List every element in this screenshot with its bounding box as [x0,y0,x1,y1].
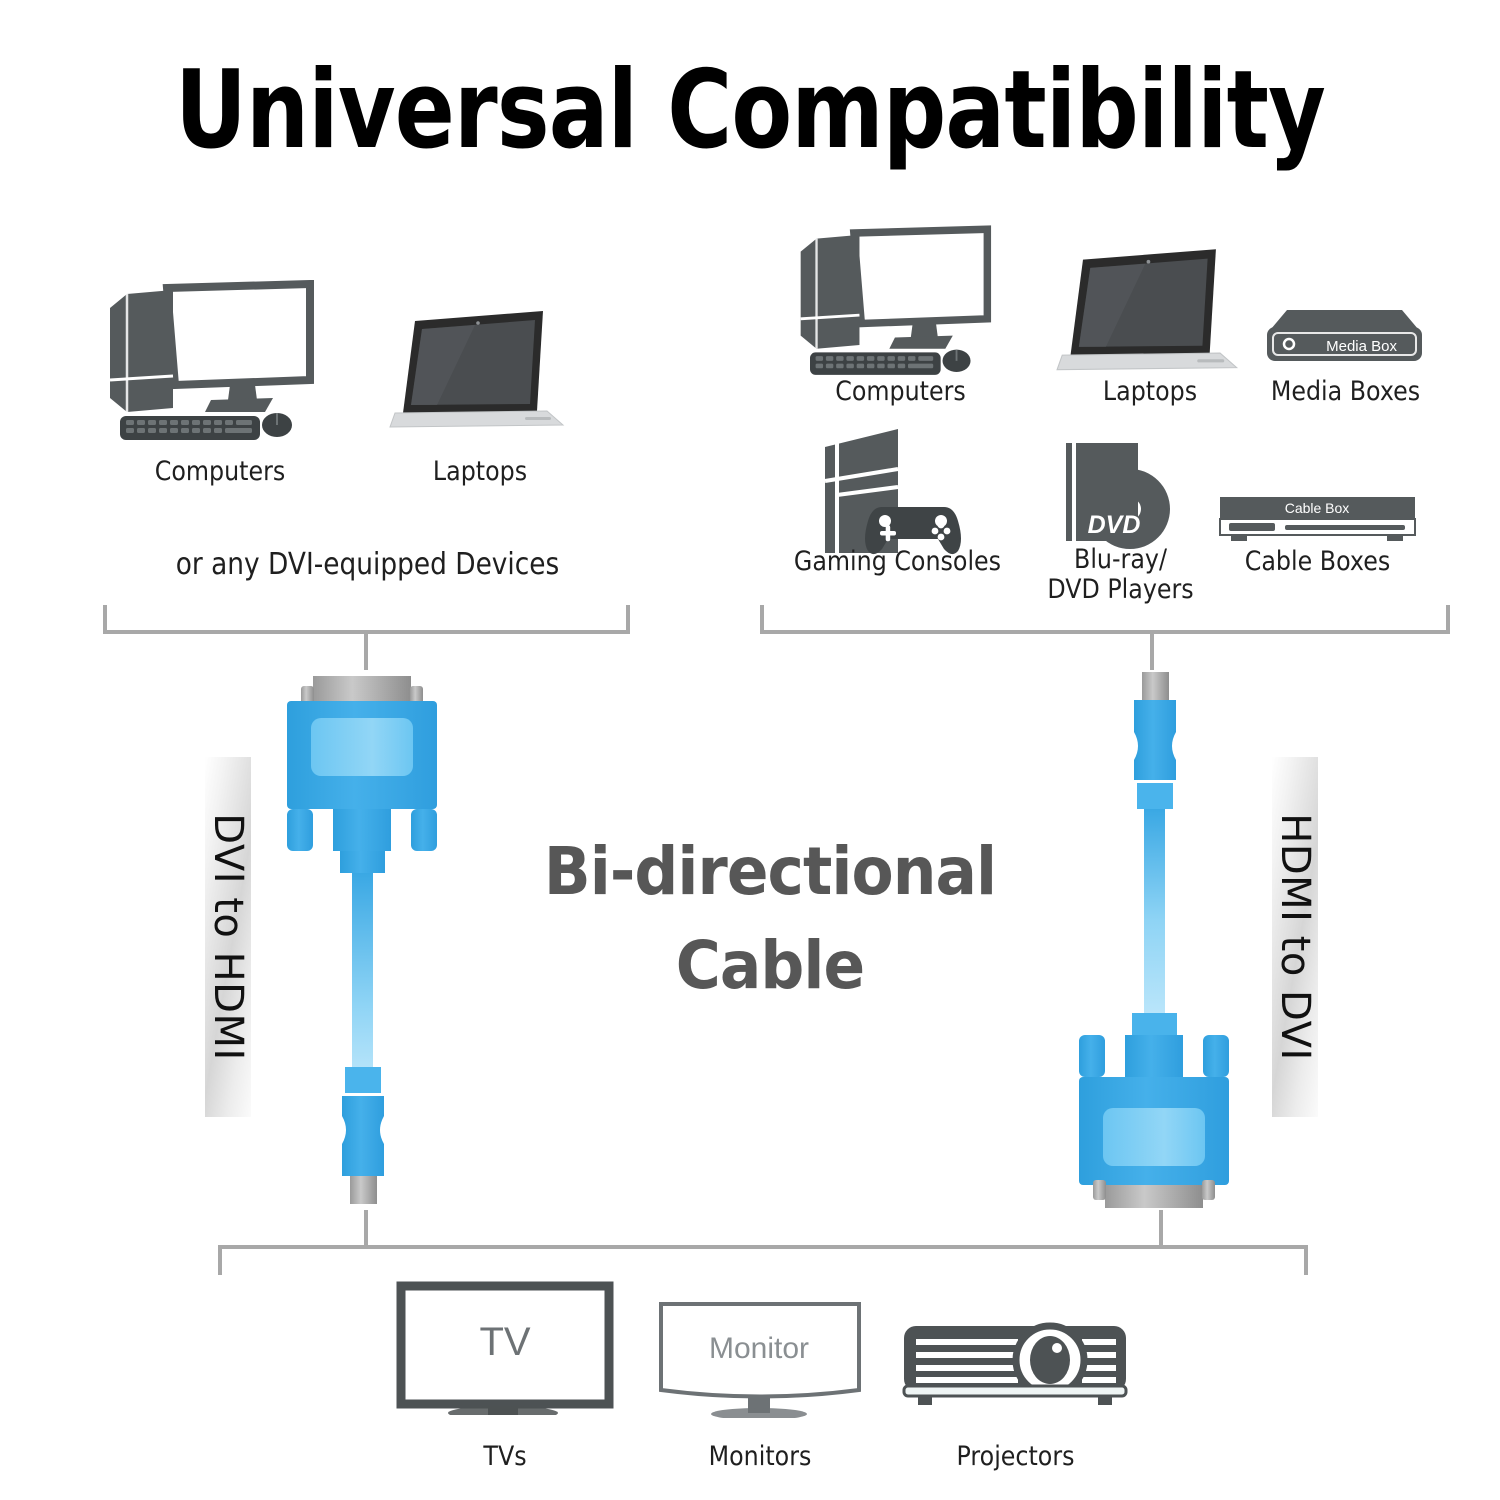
bracket-bottom-horizontal [218,1245,1308,1249]
bracket-bottom-stem-left [364,1210,368,1248]
bracket-left-cap-start [103,605,107,634]
device-label-computers-left: Computers [110,457,330,487]
device-label-dvd-players-line2: DVD Players [1039,575,1202,605]
cable-right [1072,668,1252,1208]
cable-left-label-text: DVI to HDMI [205,813,251,1061]
cable-box-device-text: Cable Box [1285,500,1350,516]
projector-icon [898,1308,1133,1418]
hdmi-to-dvi-cable [1072,668,1252,1208]
device-laptops-right [1048,243,1253,378]
tv-icon: TV [395,1280,615,1415]
device-tvs: TV [395,1280,615,1415]
device-label-cable-boxes: Cable Boxes [1227,547,1407,577]
bracket-bottom-stem-right [1159,1210,1163,1248]
cable-box-icon: Cable Box [1215,495,1420,545]
bracket-right-cap-end [1446,605,1450,634]
device-cable-boxes: Cable Box [1215,495,1420,545]
device-laptops-left [385,305,575,435]
center-caption: Bi-directional Cable [500,825,1039,1012]
center-caption-line2: Cable [500,919,1039,1013]
desktop-computer-icon [796,225,1006,380]
dvi-to-hdmi-cable [280,668,460,1208]
device-label-dvd-players-line1: Blu-ray/ [1039,545,1202,575]
device-label-laptops-right: Laptops [1062,377,1238,407]
device-label-media-boxes: Media Boxes [1255,377,1435,407]
device-label-dvd-players: Blu-ray/ DVD Players [1039,545,1202,605]
bracket-left-cap-end [626,605,630,634]
laptop-icon [1048,243,1253,378]
cable-left [280,668,460,1208]
bracket-bottom-cap-left [218,1245,222,1275]
desktop-computer-icon [105,280,330,445]
cable-right-label-band: HDMI to DVI [1272,757,1318,1117]
device-monitors: Monitor [655,1298,865,1418]
dvd-player-icon: DVD [1048,433,1188,553]
tv-device-text: TV [479,1320,530,1364]
dvi-devices-note: or any DVI-equipped Devices [128,547,608,582]
media-box-icon: Media Box [1257,301,1432,371]
device-computers-left [105,280,330,445]
cable-left-label-band: DVI to HDMI [205,757,251,1117]
bracket-left-stem [364,630,368,670]
device-gaming-consoles [810,425,985,560]
device-label-laptops-left: Laptops [392,457,568,487]
media-box-device-text: Media Box [1326,338,1397,355]
page-title: Universal Compatibility [135,52,1365,171]
bracket-right-stem [1150,630,1154,670]
device-label-projectors: Projectors [912,1442,1119,1472]
dvd-device-text: DVD [1088,511,1141,539]
device-label-tvs: TVs [408,1442,602,1472]
device-media-boxes: Media Box [1257,301,1432,371]
game-console-icon [810,425,985,560]
infographic-canvas: Universal Compatibility [0,0,1500,1500]
device-label-monitors: Monitors [659,1442,861,1472]
output-group: TV TVs Monitor Monitors [380,1270,1140,1480]
center-caption-line1: Bi-directional [500,825,1039,919]
monitor-icon: Monitor [655,1298,865,1418]
device-label-computers-right: Computers [802,377,1000,407]
source-group-right: Computers Laptops Media Box [760,225,1460,600]
cable-right-label-text: HDMI to DVI [1272,813,1318,1061]
source-group-left: Computers Laptops or any DVI-equipped De… [95,275,640,635]
laptop-icon [385,305,575,435]
device-label-gaming-consoles: Gaming Consoles [785,547,1009,577]
device-projectors [898,1308,1133,1418]
bracket-right-cap-start [760,605,764,634]
monitor-device-text: Monitor [709,1332,809,1365]
device-dvd-players: DVD [1048,433,1188,553]
bracket-right-horizontal [760,630,1450,634]
device-computers-right [796,225,1006,380]
bracket-bottom-cap-right [1304,1245,1308,1275]
